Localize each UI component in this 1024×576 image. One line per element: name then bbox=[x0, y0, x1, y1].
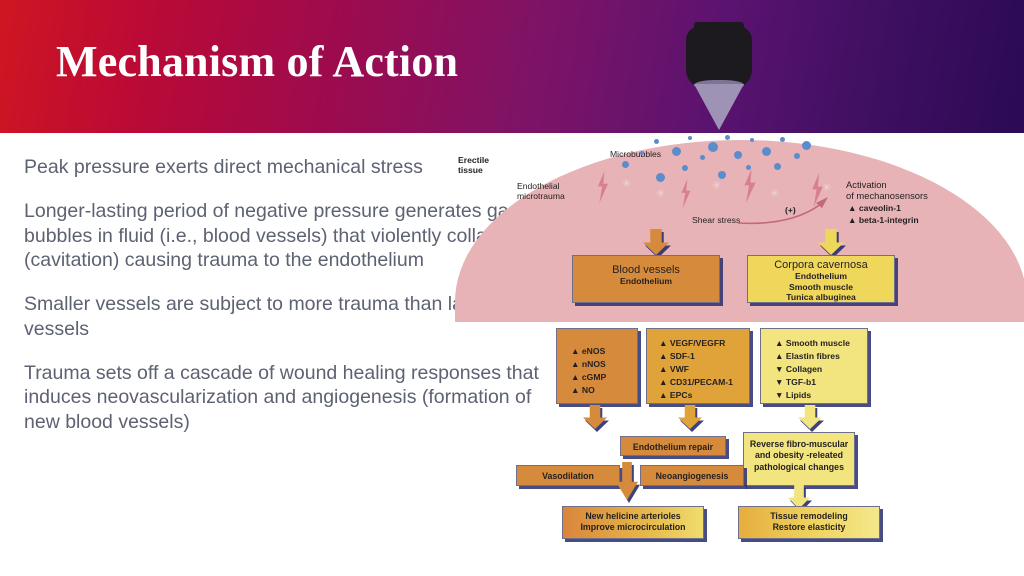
box-subtitle-line: Smooth muscle bbox=[748, 282, 894, 293]
box-angiogenic-factors-list: ▲ VEGF/VEGFR ▲ SDF-1 ▲ VWF ▲ CD31/PECAM-… bbox=[646, 328, 750, 404]
microbubble bbox=[700, 155, 705, 160]
list-item: ▲ Smooth muscle bbox=[775, 337, 867, 350]
shear-stress-label: Shear stress bbox=[692, 215, 740, 225]
shockwave-beam-cone bbox=[694, 84, 744, 130]
list-item: ▲ VEGF/VEGFR bbox=[659, 337, 749, 350]
box-label-line: Tissue remodeling bbox=[739, 511, 879, 522]
list-item: ▲ nNOS bbox=[571, 358, 637, 371]
spark-icon: ✳ bbox=[822, 183, 831, 194]
list-item: ▲ SDF-1 bbox=[659, 350, 749, 363]
box-subtitle-line: Endothelium bbox=[748, 271, 894, 282]
spark-icon: ✳ bbox=[656, 189, 665, 200]
microbubble bbox=[746, 165, 751, 170]
mechanism-diagram: Erectile tissue Endothelial microtrauma … bbox=[450, 133, 1024, 576]
shockwave-probe-icon bbox=[686, 26, 752, 88]
microbubble bbox=[656, 173, 665, 182]
box-vasodilation: Vasodilation bbox=[516, 465, 620, 486]
list-item: ▼ TGF-b1 bbox=[775, 376, 867, 389]
list-item: ▲ CD31/PECAM-1 bbox=[659, 376, 749, 389]
flow-arrow-down bbox=[616, 462, 638, 500]
activation-mechanosensors-label: Activation of mechanosensors bbox=[846, 179, 928, 202]
erectile-tissue-dome bbox=[455, 140, 1024, 340]
box-tissue-composition-list: ▲ Smooth muscle ▲ Elastin fibres ▼ Colla… bbox=[760, 328, 868, 404]
box-label-line: Reverse fibro-muscular bbox=[744, 439, 854, 450]
box-blood-vessels: Blood vessels Endothelium bbox=[572, 255, 720, 303]
flow-arrow-down bbox=[798, 405, 822, 429]
box-label-line: pathological changes bbox=[744, 462, 854, 473]
microbubble bbox=[774, 163, 781, 170]
box-title: Corpora cavernosa bbox=[748, 259, 894, 271]
microbubbles-label: Microbubbles bbox=[610, 149, 661, 159]
microbubble bbox=[725, 135, 730, 140]
list-item: ▲ cGMP bbox=[571, 371, 637, 384]
microbubble bbox=[640, 151, 644, 155]
box-endothelium-repair: Endothelium repair bbox=[620, 436, 726, 456]
microbubble bbox=[708, 142, 718, 152]
list-item: ▲ Elastin fibres bbox=[775, 350, 867, 363]
erectile-tissue-label: Erectile tissue bbox=[458, 155, 489, 176]
spark-icon: ✳ bbox=[622, 179, 631, 190]
page-title: Mechanism of Action bbox=[56, 36, 458, 87]
box-label-line: Improve microcirculation bbox=[563, 522, 703, 533]
list-item: ▲ eNOS bbox=[571, 345, 637, 358]
box-outcome-tissue-remodeling: Tissue remodeling Restore elasticity bbox=[738, 506, 880, 539]
mechanosensor-item: ▲ beta-1-integrin bbox=[848, 215, 919, 225]
flow-arrow-down bbox=[583, 405, 607, 429]
microbubble bbox=[780, 137, 785, 142]
microbubble bbox=[682, 165, 688, 171]
microbubble bbox=[622, 161, 629, 168]
list-item: ▲ EPCs bbox=[659, 389, 749, 402]
list-item: ▼ Lipids bbox=[775, 389, 867, 402]
spark-icon: ✳ bbox=[712, 181, 721, 192]
box-label-line: Restore elasticity bbox=[739, 522, 879, 533]
box-label: Vasodilation bbox=[517, 466, 619, 487]
endothelial-microtrauma-label: Endothelial microtrauma bbox=[517, 181, 565, 202]
box-label-line: and obesity -releated bbox=[744, 450, 854, 461]
list-item: ▼ Collagen bbox=[775, 363, 867, 376]
microbubble bbox=[654, 139, 659, 144]
microbubble bbox=[750, 138, 754, 142]
box-label-line: New helicine arterioles bbox=[563, 511, 703, 522]
box-corpora-cavernosa: Corpora cavernosa Endothelium Smooth mus… bbox=[747, 255, 895, 303]
box-outcome-microcirculation: New helicine arterioles Improve microcir… bbox=[562, 506, 704, 539]
microbubble bbox=[794, 153, 800, 159]
flow-arrow-down bbox=[818, 229, 844, 255]
microbubble bbox=[718, 171, 726, 179]
spark-icon: ✳ bbox=[770, 189, 779, 200]
box-no-pathway-list: ▲ eNOS ▲ nNOS ▲ cGMP ▲ NO bbox=[556, 328, 638, 404]
box-label: Neoangiogenesis bbox=[641, 466, 743, 487]
microbubble bbox=[762, 147, 771, 156]
microbubble bbox=[734, 151, 742, 159]
flow-arrow-down bbox=[678, 405, 702, 429]
box-title: Blood vessels bbox=[573, 264, 719, 276]
microbubble bbox=[802, 141, 811, 150]
box-subtitle-line: Tunica albuginea bbox=[748, 292, 894, 303]
mechanosensor-item: ▲ caveolin-1 bbox=[848, 203, 901, 213]
microbubble bbox=[672, 147, 681, 156]
box-subtitle: Endothelium bbox=[573, 276, 719, 287]
shear-stress-arrow-icon bbox=[736, 193, 846, 229]
microbubble bbox=[688, 136, 692, 140]
box-reverse-pathological-changes: Reverse fibro-muscular and obesity -rele… bbox=[743, 432, 855, 486]
box-label: Endothelium repair bbox=[621, 437, 725, 457]
list-item: ▲ VWF bbox=[659, 363, 749, 376]
flow-arrow-down bbox=[643, 229, 669, 255]
list-item: ▲ NO bbox=[571, 384, 637, 397]
box-neoangiogenesis: Neoangiogenesis bbox=[640, 465, 744, 486]
